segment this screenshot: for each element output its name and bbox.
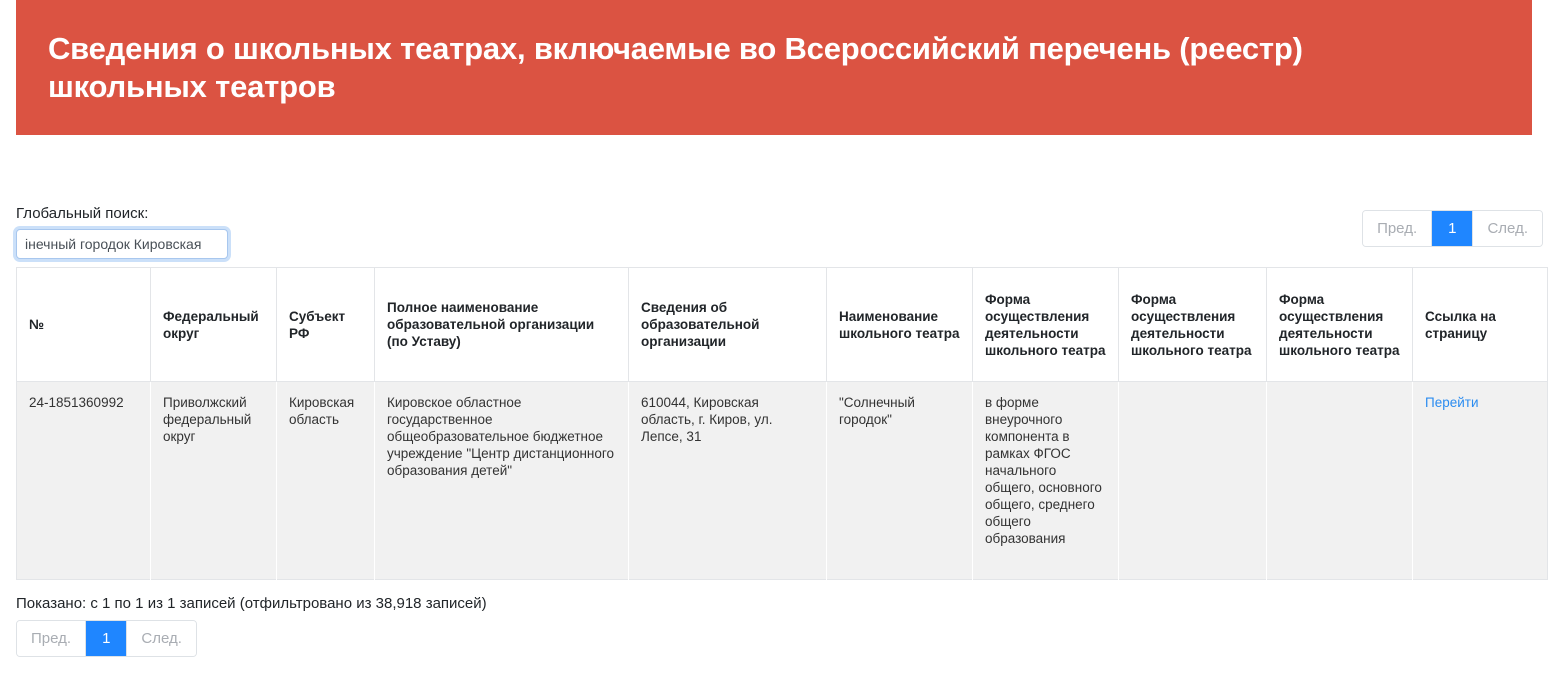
cell-number: 24-1851360992: [17, 382, 151, 580]
column-header-subject-rf[interactable]: Субъект РФ: [277, 268, 375, 382]
pagination-top-prev-button[interactable]: Пред.: [1363, 211, 1432, 246]
records-info-text: Показано: с 1 по 1 из 1 записей (отфильт…: [16, 594, 1543, 614]
column-header-federal-okrug[interactable]: Федеральный округ: [151, 268, 277, 382]
pagination-top-next-button[interactable]: След.: [1473, 211, 1542, 246]
column-header-page-link[interactable]: Ссылка на страницу: [1413, 268, 1548, 382]
column-header-form-1[interactable]: Форма осуществления деятельности школьно…: [973, 268, 1119, 382]
cell-form-1: в форме внеурочного компонента в рамках …: [973, 382, 1119, 580]
cell-federal-okrug: Приволжский федеральный округ: [151, 382, 277, 580]
cell-theatre-name: "Солнечный городок": [827, 382, 973, 580]
cell-form-2: [1119, 382, 1267, 580]
page-banner: Сведения о школьных театрах, включаемые …: [16, 0, 1532, 135]
column-header-number[interactable]: №: [17, 268, 151, 382]
global-search: Глобальный поиск:: [16, 205, 228, 259]
pagination-bottom-next-button[interactable]: След.: [127, 621, 196, 656]
cell-form-3: [1267, 382, 1413, 580]
table-footer: Показано: с 1 по 1 из 1 записей (отфильт…: [16, 594, 1543, 657]
registry-table: № Федеральный округ Субъект РФ Полное на…: [16, 267, 1548, 580]
pagination-bottom-page-1-button[interactable]: 1: [86, 621, 127, 656]
table-row: 24-1851360992 Приволжский федеральный ок…: [17, 382, 1548, 580]
table-header-row: № Федеральный округ Субъект РФ Полное на…: [17, 268, 1548, 382]
registry-table-container: № Федеральный округ Субъект РФ Полное на…: [16, 267, 1543, 580]
table-controls: Глобальный поиск: Пред. 1 След.: [16, 205, 1543, 263]
column-header-theatre-name[interactable]: Наименование школьного театра: [827, 268, 973, 382]
search-input[interactable]: [16, 229, 228, 259]
page-title: Сведения о школьных театрах, включаемые …: [48, 30, 1438, 106]
column-header-org-info[interactable]: Сведения об образовательной организации: [629, 268, 827, 382]
pagination-top: Пред. 1 След.: [1362, 210, 1543, 247]
column-header-form-3[interactable]: Форма осуществления деятельности школьно…: [1267, 268, 1413, 382]
pagination-top-page-1-button[interactable]: 1: [1432, 211, 1473, 246]
pagination-bottom: Пред. 1 След.: [16, 620, 197, 657]
column-header-form-2[interactable]: Форма осуществления деятельности школьно…: [1119, 268, 1267, 382]
column-header-full-name[interactable]: Полное наименование образовательной орга…: [375, 268, 629, 382]
cell-page-link: Перейти: [1413, 382, 1548, 580]
cell-org-info: 610044, Кировская область, г. Киров, ул.…: [629, 382, 827, 580]
cell-full-name: Кировское областное государственное обще…: [375, 382, 629, 580]
pagination-bottom-prev-button[interactable]: Пред.: [17, 621, 86, 656]
cell-subject-rf: Кировская область: [277, 382, 375, 580]
go-to-page-link[interactable]: Перейти: [1425, 395, 1479, 410]
search-label: Глобальный поиск:: [16, 205, 228, 223]
